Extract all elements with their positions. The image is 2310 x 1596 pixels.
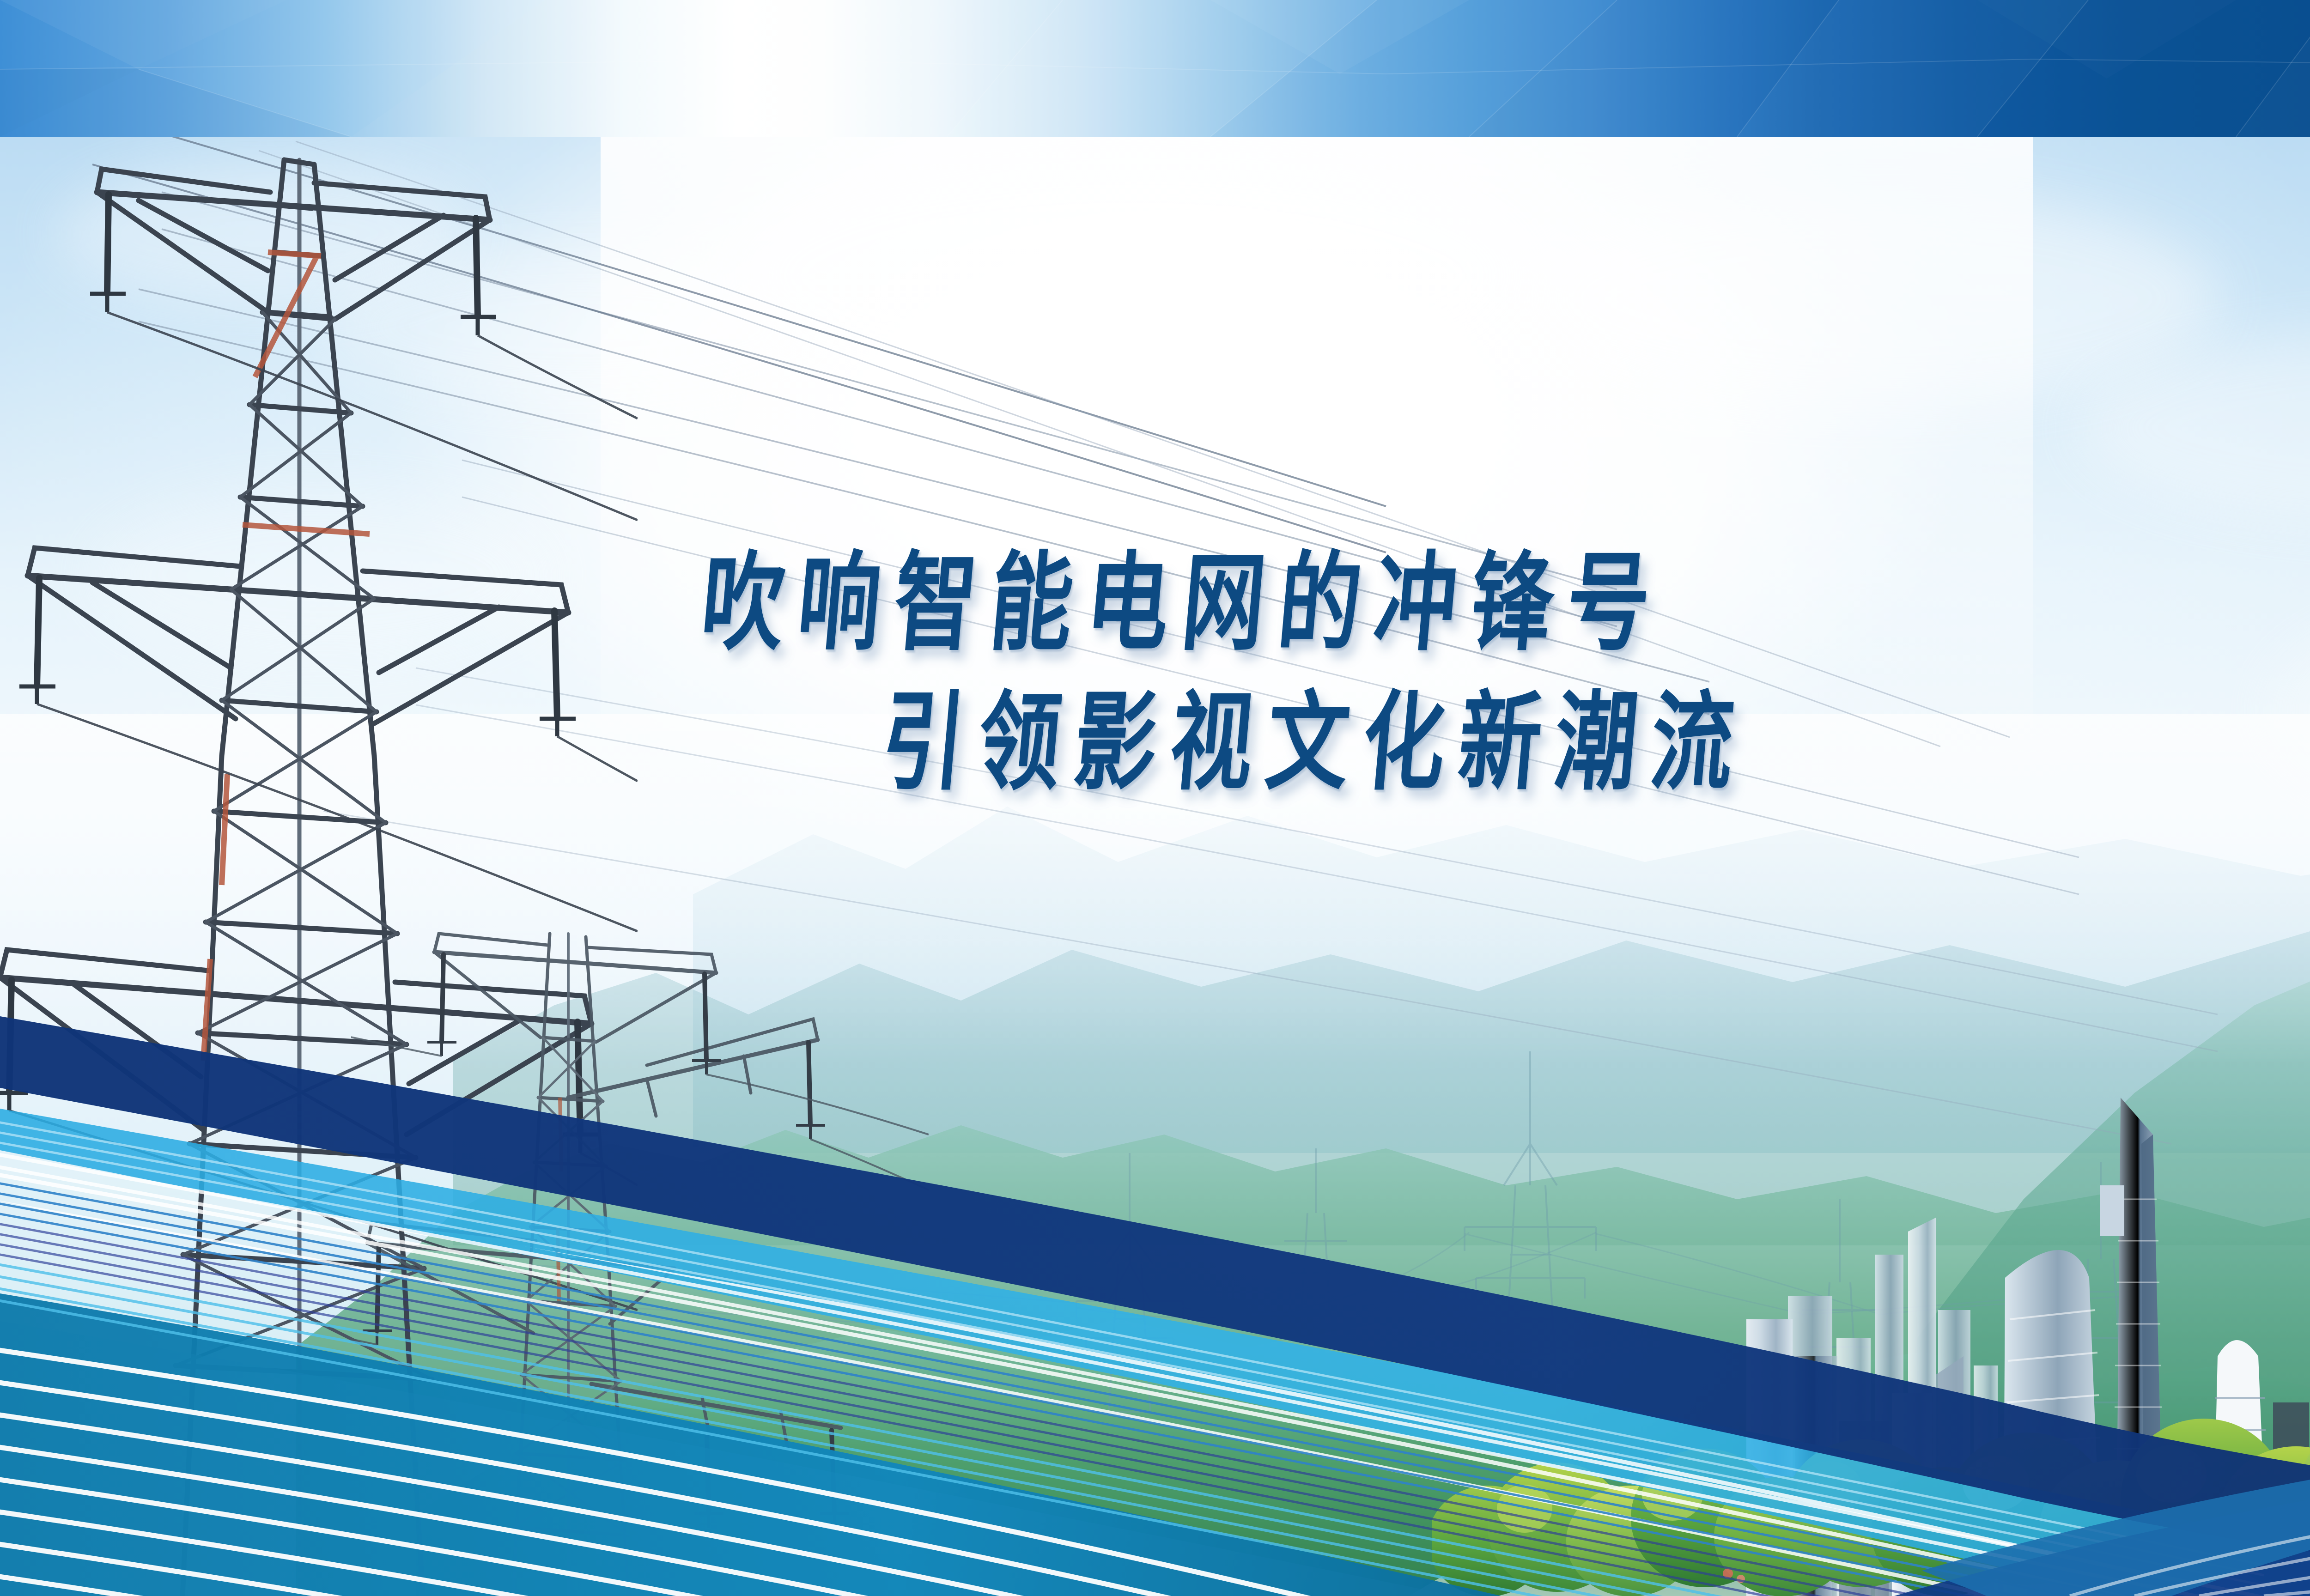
bottom-wave-ribbons (0, 0, 2310, 1596)
banner-root: 吹响智能电网的冲锋号 引领影视文化新潮流 (0, 0, 2310, 1596)
